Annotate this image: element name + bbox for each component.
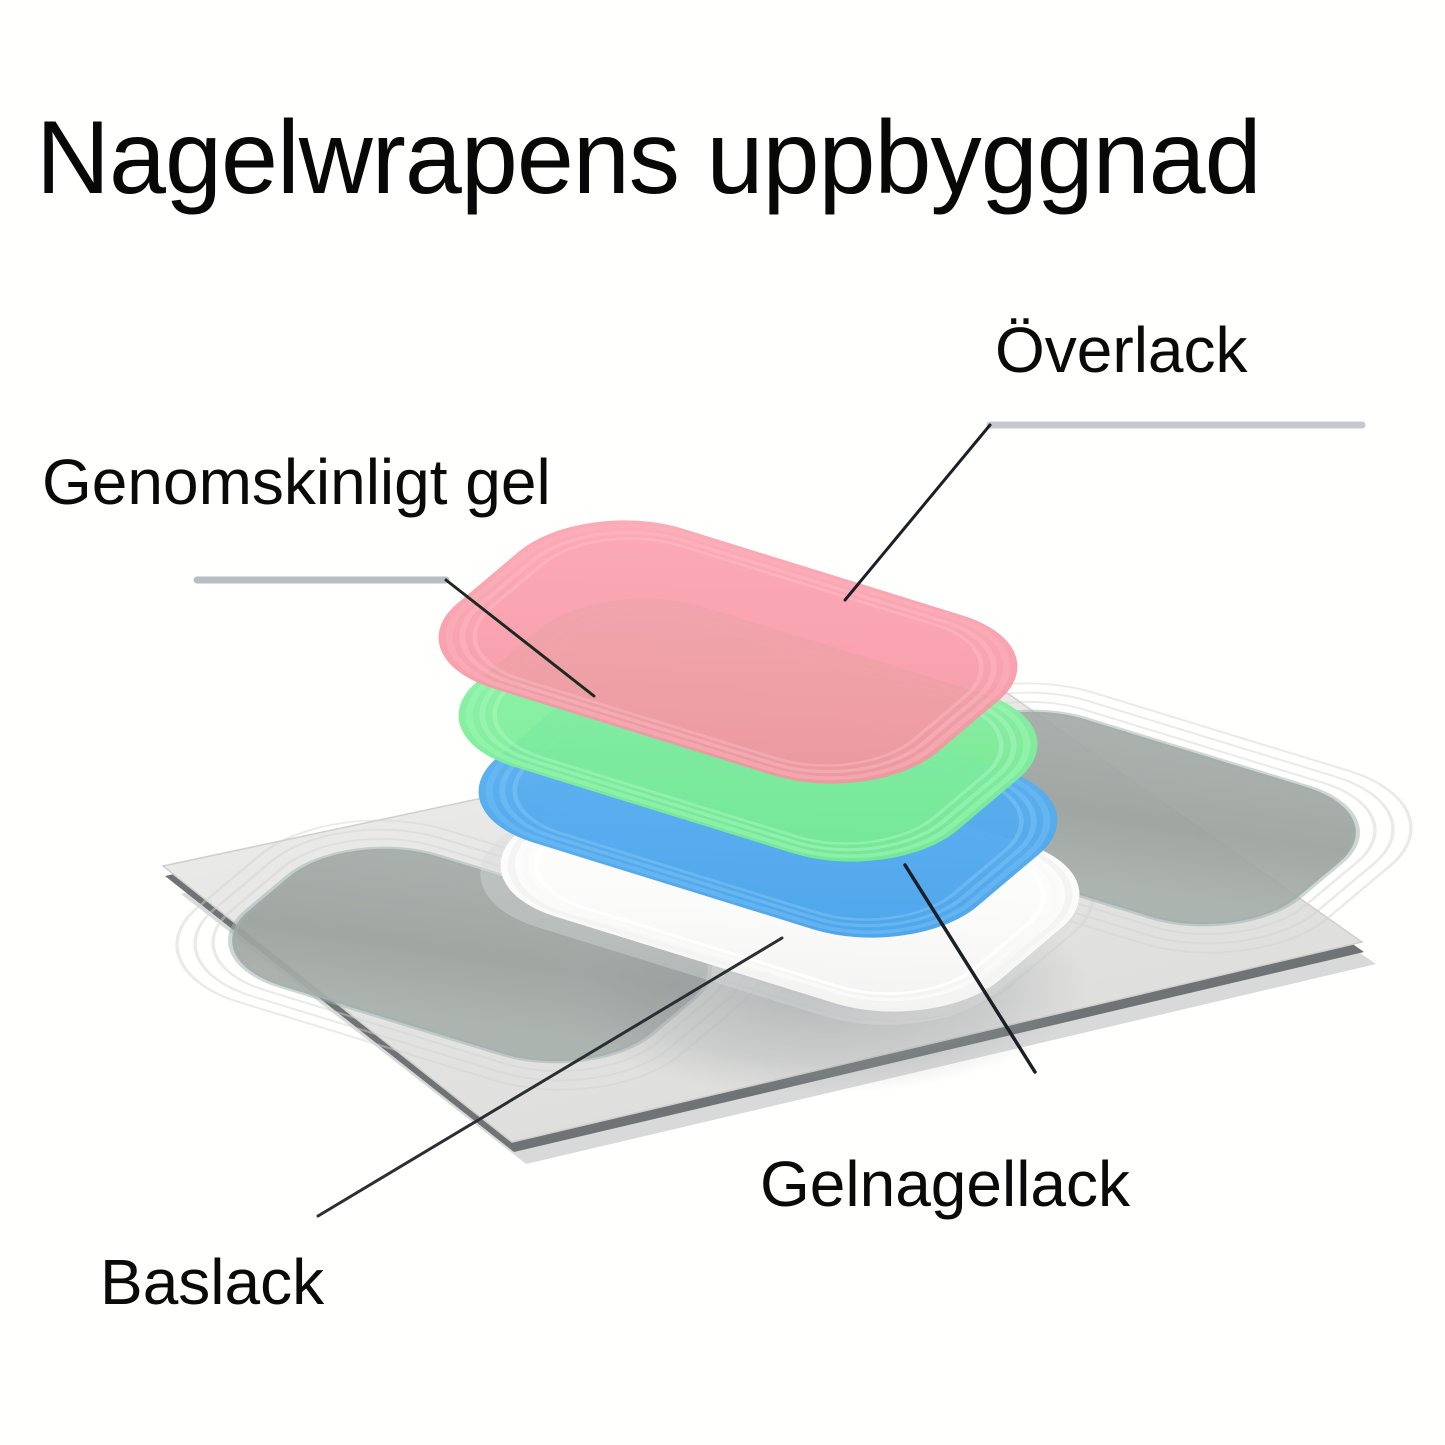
page-title: Nagelwrapens uppbyggnad [36,104,1395,213]
label-genomskinligt-gel: Genomskinligt gel [42,450,551,514]
label-overlack: Överlack [995,318,1248,382]
label-gelnagellack: Gelnagellack [760,1152,1130,1216]
label-baslack: Baslack [100,1250,324,1314]
illustration-page: Nagelwrapens uppbyggnad Överlack Genomsk… [0,0,1445,1445]
leader-line-overlack [845,425,990,600]
nail-wrap-layer-diagram [0,0,1445,1445]
